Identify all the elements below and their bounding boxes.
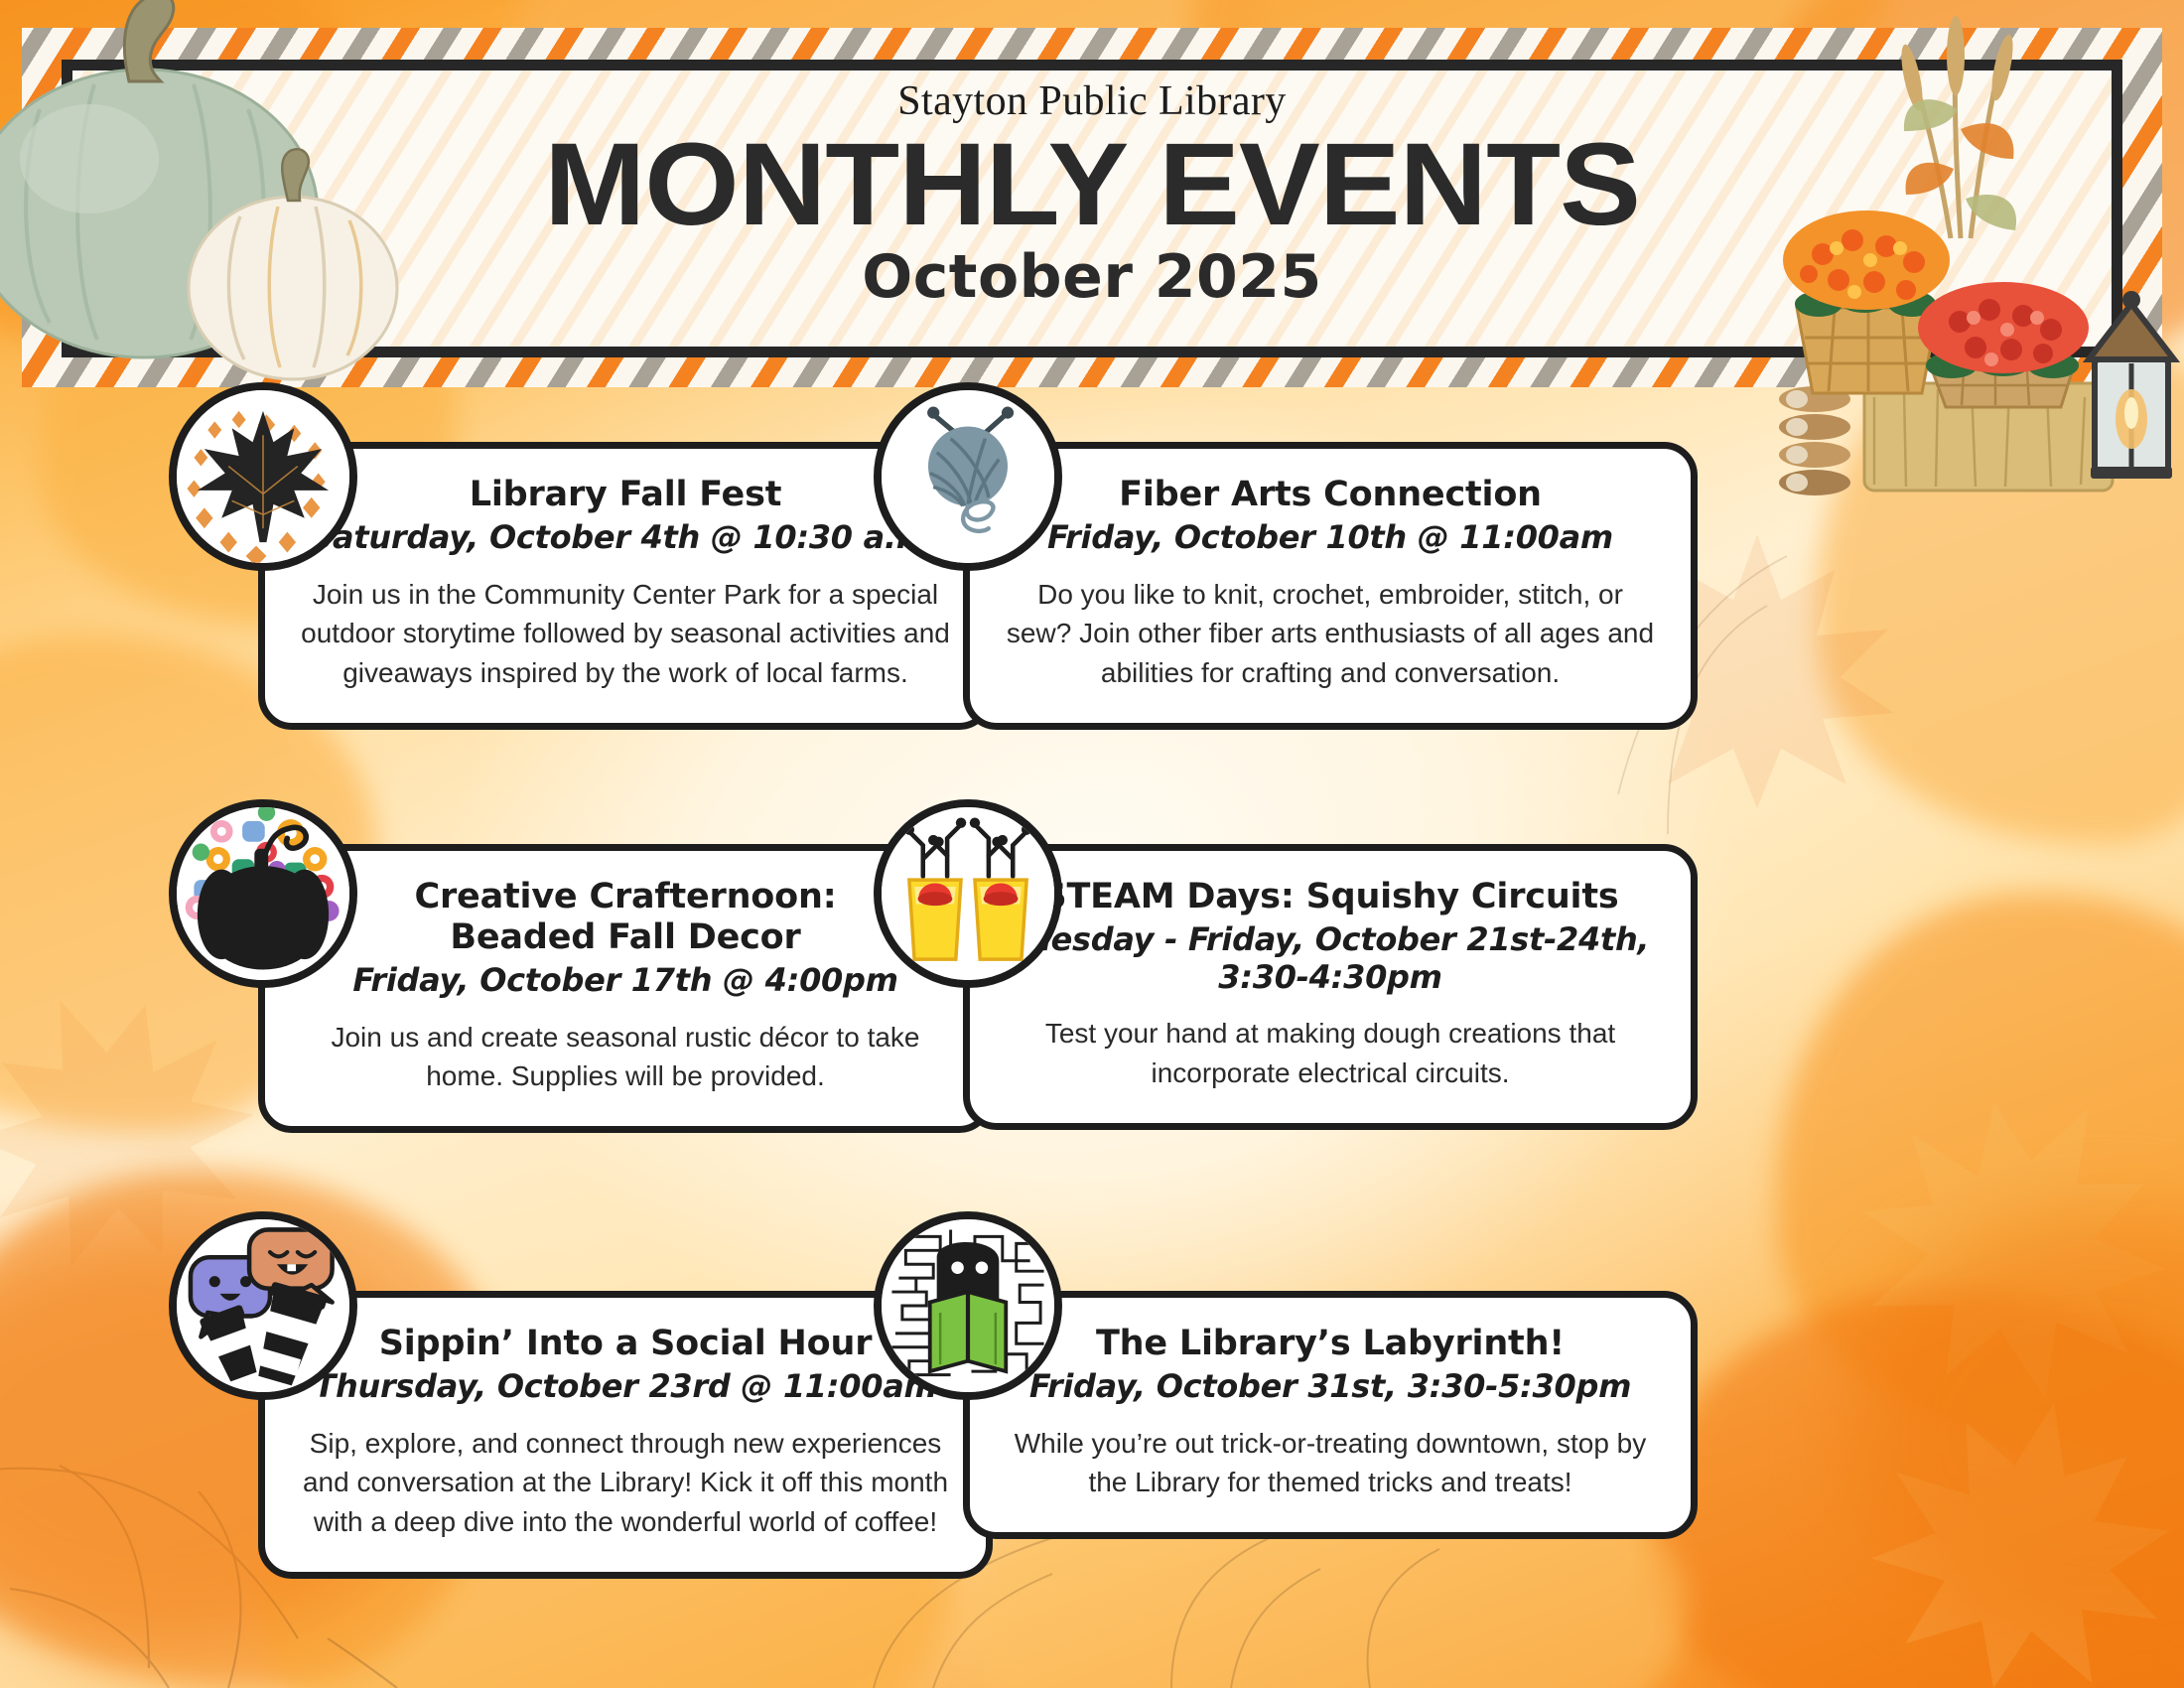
coffee-cups-speech-bubbles-icon bbox=[169, 1211, 357, 1400]
squishy-circuits-dough-cups-icon bbox=[874, 799, 1062, 988]
event-title: STEAM Days: Squishy Circuits bbox=[1004, 877, 1657, 917]
pumpkins-decoration-left bbox=[0, 0, 496, 427]
event-title: Fiber Arts Connection bbox=[1004, 475, 1657, 515]
events-grid: Library Fall Fest Saturday, October 4th … bbox=[0, 417, 2184, 1638]
event-description: Sip, explore, and connect through new ex… bbox=[299, 1424, 952, 1542]
yarn-ball-knitting-needles-icon bbox=[874, 382, 1062, 571]
event-title: Creative Crafternoon: Beaded Fall Decor bbox=[299, 877, 952, 958]
event-description: Do you like to knit, crochet, embroider,… bbox=[1004, 575, 1657, 693]
event-date: Tuesday - Friday, October 21st-24th, 3:3… bbox=[1004, 921, 1657, 997]
maple-leaf-icon bbox=[169, 382, 357, 571]
maze-ghost-book-icon bbox=[874, 1211, 1062, 1400]
event-date: Thursday, October 23rd @ 11:00am bbox=[299, 1368, 952, 1406]
flyer-page: Stayton Public Library MONTHLY EVENTS Oc… bbox=[0, 0, 2184, 1688]
event-description: While you’re out trick-or-treating downt… bbox=[1004, 1424, 1657, 1503]
event-description: Test your hand at making dough creations… bbox=[1004, 1014, 1657, 1093]
event-date: Saturday, October 4th @ 10:30 a.m. bbox=[299, 519, 952, 557]
event-description: Join us in the Community Center Park for… bbox=[299, 575, 952, 693]
event-title: Library Fall Fest bbox=[299, 475, 952, 515]
event-title: Sippin’ Into a Social Hour bbox=[299, 1324, 952, 1364]
event-title: The Library’s Labyrinth! bbox=[1004, 1324, 1657, 1364]
event-date: Friday, October 10th @ 11:00am bbox=[1004, 519, 1657, 557]
event-date: Friday, October 17th @ 4:00pm bbox=[299, 962, 952, 1000]
event-date: Friday, October 31st, 3:30-5:30pm bbox=[1004, 1368, 1657, 1406]
event-description: Join us and create seasonal rustic décor… bbox=[299, 1018, 952, 1097]
beaded-pumpkin-icon bbox=[169, 799, 357, 988]
